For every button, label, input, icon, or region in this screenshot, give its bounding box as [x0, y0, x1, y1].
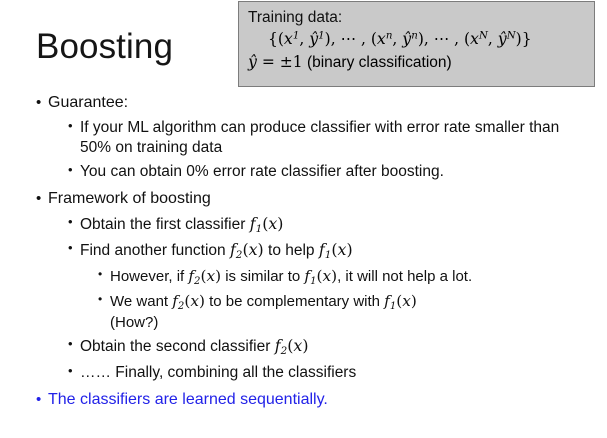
bullet-framework-label: Framework of boosting: [48, 189, 607, 210]
note-2-suffix: (How?): [110, 313, 520, 333]
bullet-guarantee-item-1: • You can obtain 0% error rate classifie…: [68, 162, 607, 182]
bullet-framework-step-2-text: Find another function f2(x) to help f1(x…: [80, 240, 607, 262]
note-2-prefix: We want: [110, 293, 172, 310]
f2-of-x-math: f2(x): [188, 267, 221, 285]
spacer: [0, 182, 607, 189]
step-2-middle: to help: [264, 242, 319, 259]
bullet-dot-icon: •: [68, 214, 80, 231]
f1-of-x-math: f1(x): [250, 214, 284, 233]
bullet-closing-text: The classifiers are learned sequentially…: [48, 390, 607, 411]
slide-body: • Guarantee: • If your ML algorithm can …: [0, 93, 607, 411]
f1-of-x-math: f1(x): [304, 267, 337, 285]
bullet-guarantee: • Guarantee:: [36, 93, 607, 114]
bullet-dot-icon: •: [98, 292, 110, 308]
page-title: Boosting: [36, 28, 173, 67]
bullet-framework: • Framework of boosting: [36, 189, 607, 210]
bullet-dot-icon: •: [98, 267, 110, 283]
bullet-guarantee-label: Guarantee:: [48, 93, 607, 114]
training-data-callout: Training data: {(x1, ŷ1), ⋯ , (xn, ŷn), …: [238, 1, 595, 87]
bullet-dot-icon: •: [36, 390, 48, 410]
bullet-framework-note-1-text: However, if f2(x) is similar to f1(x), i…: [110, 267, 534, 288]
training-data-set-notation: {(x1, ŷ1), ⋯ , (xn, ŷn), ⋯ , (xN, ŷN)}: [248, 28, 586, 50]
f2-of-x-math: f2(x): [172, 292, 205, 310]
note-1-middle: is similar to: [221, 268, 304, 285]
binary-classification-note: (binary classification): [307, 54, 452, 71]
step-3-prefix: Obtain the second classifier: [80, 338, 275, 355]
f1-of-x-math: f1(x): [319, 240, 353, 259]
training-data-heading: Training data:: [248, 8, 586, 28]
bullet-framework-step-3: • Obtain the second classifier f2(x): [68, 336, 607, 358]
bullet-guarantee-item-1-text: You can obtain 0% error rate classifier …: [80, 162, 607, 182]
bullet-framework-note-2: • We want f2(x) to be complementary with…: [98, 292, 607, 332]
bullet-dot-icon: •: [36, 93, 48, 113]
bullet-framework-step-3-text: Obtain the second classifier f2(x): [80, 336, 607, 358]
step-2-prefix: Find another function: [80, 242, 230, 259]
f2-of-x-math: f2(x): [275, 336, 309, 355]
note-2-middle: to be complementary with: [205, 293, 384, 310]
bullet-dot-icon: •: [68, 118, 80, 135]
bullet-closing: • The classifiers are learned sequential…: [36, 390, 607, 411]
bullet-dot-icon: •: [36, 189, 48, 209]
bullet-dot-icon: •: [68, 336, 80, 353]
note-1-prefix: However, if: [110, 268, 188, 285]
bullet-framework-note-2-text: We want f2(x) to be complementary with f…: [110, 292, 534, 332]
bullet-guarantee-item-0-text: If your ML algorithm can produce classif…: [80, 118, 594, 158]
bullet-framework-step-4-text: …… Finally, combining all the classifier…: [80, 363, 607, 383]
bullet-dot-icon: •: [68, 162, 80, 179]
step-1-prefix: Obtain the first classifier: [80, 216, 250, 233]
bullet-dot-icon: •: [68, 363, 80, 380]
bullet-framework-note-1: • However, if f2(x) is similar to f1(x),…: [98, 267, 607, 288]
spacer: [0, 383, 607, 390]
training-data-label-notation: ŷ = ±1 (binary classification): [248, 51, 586, 73]
f1-of-x-math: f1(x): [384, 292, 417, 310]
bullet-guarantee-item-0: • If your ML algorithm can produce class…: [68, 118, 607, 158]
bullet-framework-step-2: • Find another function f2(x) to help f1…: [68, 240, 607, 262]
note-1-suffix: , it will not help a lot.: [337, 268, 472, 285]
bullet-framework-step-4: • …… Finally, combining all the classifi…: [68, 363, 607, 383]
bullet-framework-step-1-text: Obtain the first classifier f1(x): [80, 214, 607, 236]
f2-of-x-math: f2(x): [230, 240, 264, 259]
bullet-dot-icon: •: [68, 240, 80, 257]
bullet-framework-step-1: • Obtain the first classifier f1(x): [68, 214, 607, 236]
